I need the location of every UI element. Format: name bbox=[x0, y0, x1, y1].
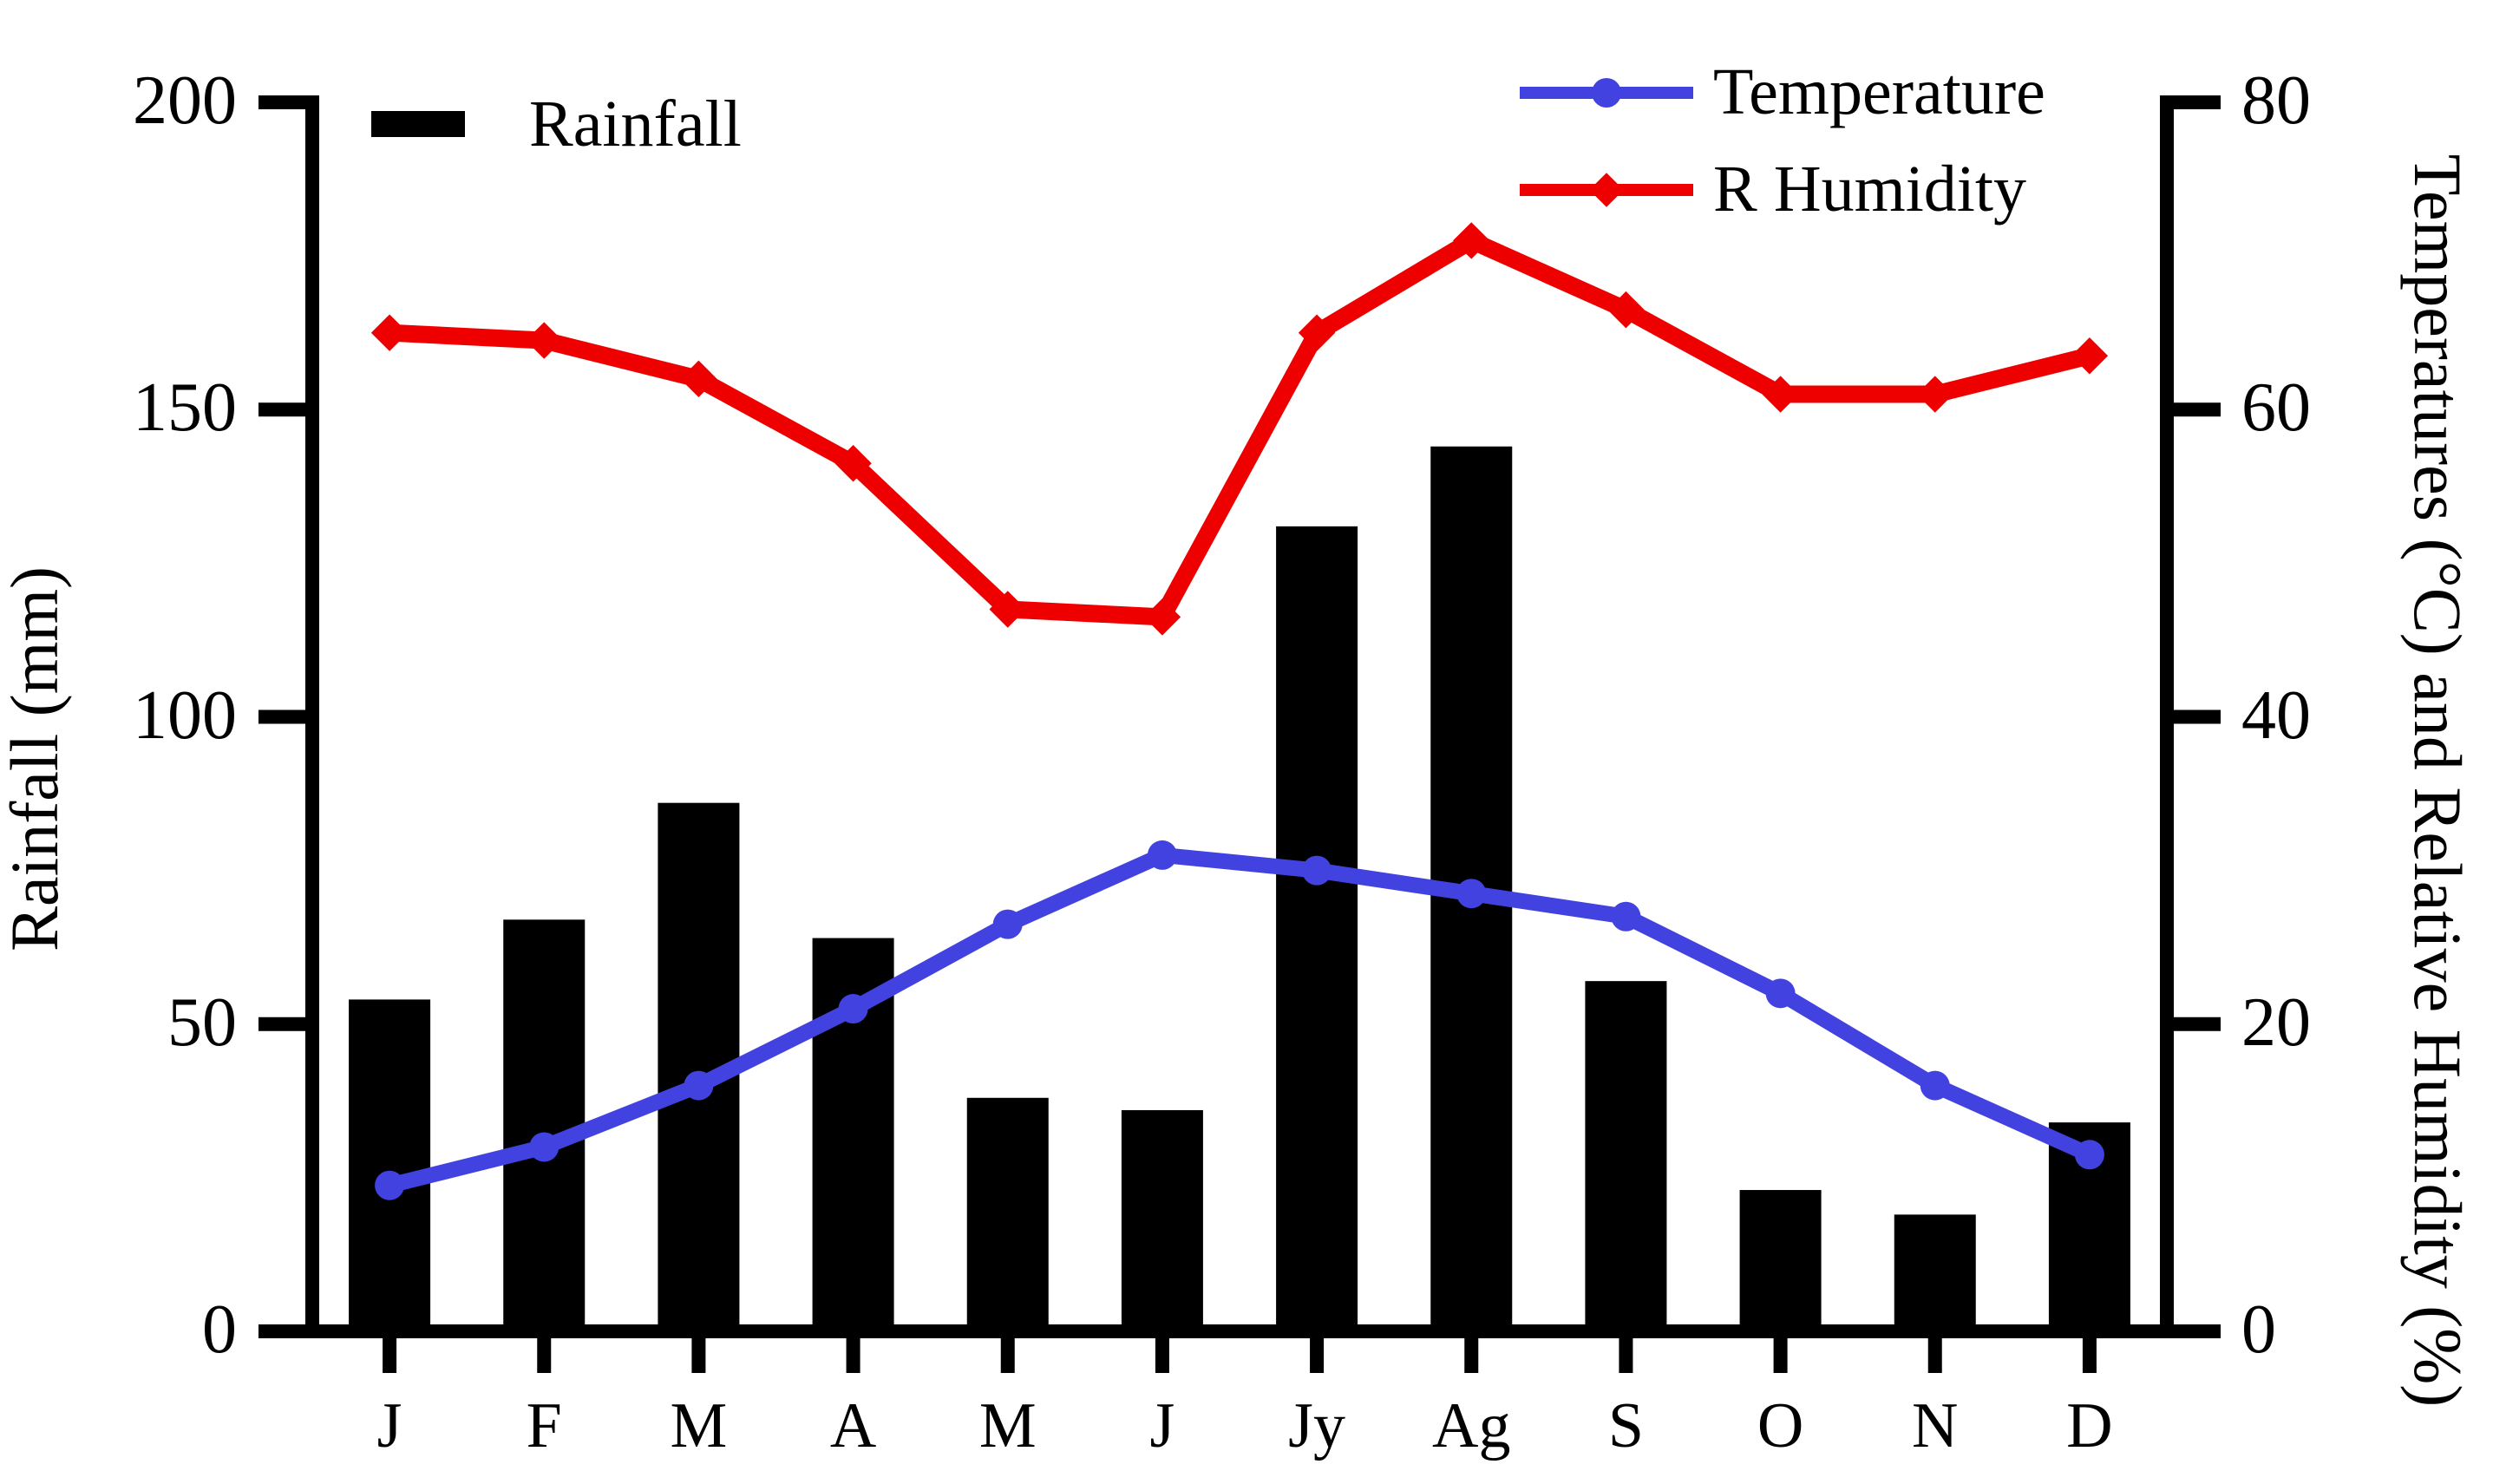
x-tick-label-F: F bbox=[527, 1394, 562, 1458]
plot-area bbox=[0, 0, 2493, 1484]
y-tick-label-left-200: 200 bbox=[20, 66, 237, 135]
marker-r-humidity-J[interactable] bbox=[371, 314, 408, 350]
marker-temperature-O[interactable] bbox=[1766, 978, 1796, 1008]
y-tick-label-left-0: 0 bbox=[20, 1295, 237, 1364]
y-tick-label-left-50: 50 bbox=[20, 988, 237, 1057]
bar-N[interactable] bbox=[1894, 1214, 1976, 1331]
y-tick-label-right-0: 0 bbox=[2241, 1295, 2458, 1364]
bar-J[interactable] bbox=[349, 999, 430, 1331]
marker-temperature-J[interactable] bbox=[375, 1171, 404, 1200]
bar-J[interactable] bbox=[1122, 1110, 1203, 1331]
y-tick-label-right-20: 20 bbox=[2241, 988, 2458, 1057]
bar-M[interactable] bbox=[967, 1098, 1049, 1331]
marker-r-humidity-F[interactable] bbox=[526, 322, 562, 358]
bar-S[interactable] bbox=[1585, 981, 1666, 1331]
x-tick-label-Jy: Jy bbox=[1288, 1394, 1345, 1458]
x-tick-label-J: J bbox=[377, 1394, 402, 1458]
chart-figure: Rainfall (mm) Temperatures (°C) and Rela… bbox=[0, 0, 2493, 1484]
marker-temperature-D[interactable] bbox=[2075, 1140, 2104, 1169]
bar-O[interactable] bbox=[1740, 1190, 1822, 1331]
marker-temperature-Ag[interactable] bbox=[1456, 879, 1486, 908]
bar-Jy[interactable] bbox=[1276, 526, 1358, 1331]
x-tick-label-O: O bbox=[1757, 1394, 1803, 1458]
x-tick-label-Ag: Ag bbox=[1432, 1394, 1510, 1458]
y-tick-label-left-150: 150 bbox=[20, 373, 237, 442]
marker-r-humidity-N[interactable] bbox=[1917, 376, 1953, 412]
y-tick-label-right-80: 80 bbox=[2241, 66, 2458, 135]
y-tick-label-left-100: 100 bbox=[20, 681, 237, 750]
x-tick-label-D: D bbox=[2066, 1394, 2112, 1458]
legend-marker-circle-icon bbox=[1592, 78, 1621, 108]
legend-swatch-rainfall bbox=[371, 111, 465, 137]
marker-temperature-S[interactable] bbox=[1611, 902, 1640, 932]
marker-temperature-M[interactable] bbox=[684, 1071, 713, 1101]
marker-temperature-J[interactable] bbox=[1148, 840, 1177, 870]
series-line-r-humidity[interactable] bbox=[389, 240, 2090, 617]
x-tick-label-S: S bbox=[1608, 1394, 1644, 1458]
legend-label-temperature: Temperature bbox=[1713, 59, 2045, 125]
x-tick-label-M: M bbox=[979, 1394, 1037, 1458]
marker-r-humidity-D[interactable] bbox=[2071, 337, 2108, 374]
bar-F[interactable] bbox=[503, 919, 585, 1331]
marker-temperature-M[interactable] bbox=[993, 910, 1023, 939]
marker-temperature-N[interactable] bbox=[1920, 1071, 1950, 1101]
x-tick-label-N: N bbox=[1912, 1394, 1958, 1458]
x-tick-label-A: A bbox=[830, 1394, 876, 1458]
marker-temperature-A[interactable] bbox=[839, 994, 868, 1023]
marker-temperature-Jy[interactable] bbox=[1302, 856, 1332, 886]
marker-temperature-F[interactable] bbox=[529, 1132, 559, 1161]
series-line-temperature[interactable] bbox=[389, 855, 2090, 1186]
y-tick-label-right-60: 60 bbox=[2241, 373, 2458, 442]
legend-label-rainfall: Rainfall bbox=[529, 91, 742, 157]
legend-label-r-humidity: R Humidity bbox=[1713, 156, 2026, 222]
y-tick-label-right-40: 40 bbox=[2241, 681, 2458, 750]
x-tick-label-J: J bbox=[1150, 1394, 1175, 1458]
x-tick-label-M: M bbox=[671, 1394, 728, 1458]
